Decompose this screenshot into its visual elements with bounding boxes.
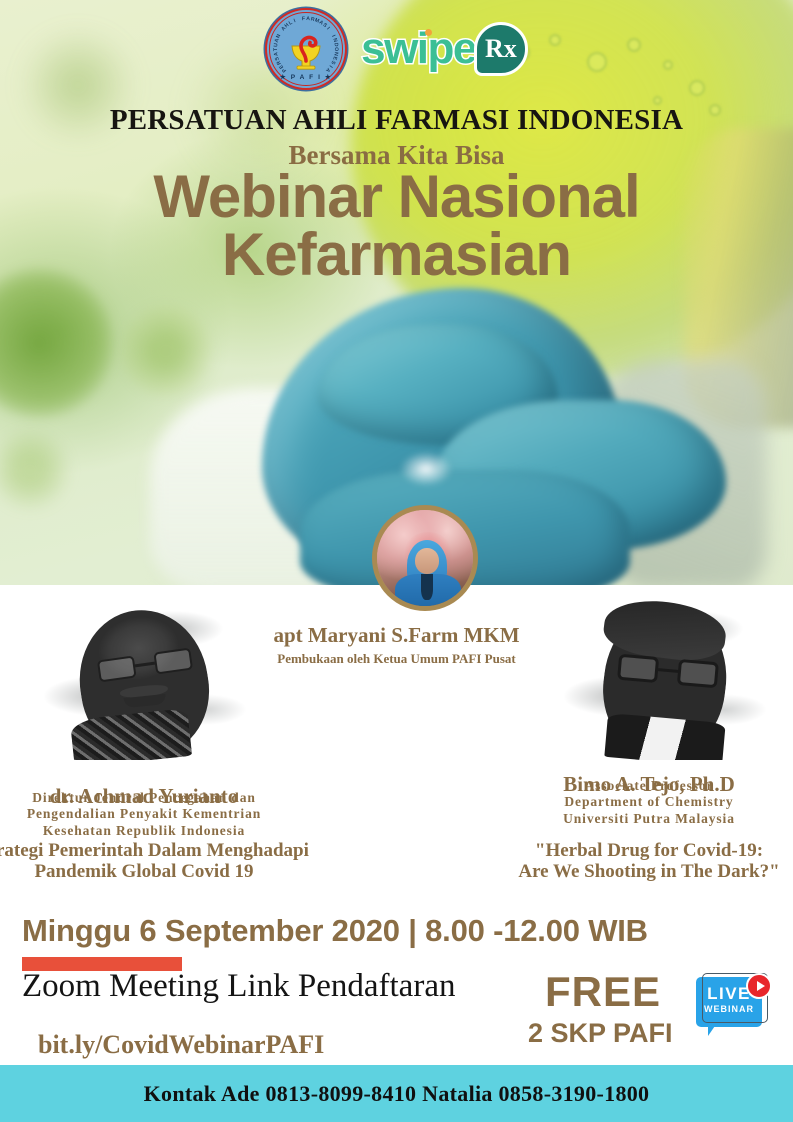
glove-highlight [400, 452, 452, 486]
organization-name: PERSATUAN AHLI FARMASI INDONESIA [0, 104, 793, 137]
price-free: FREE [545, 968, 661, 1016]
left-topic-line-2: Pandemik Global Covid 19 [0, 861, 344, 882]
right-speaker-affiliation: Associate Professor Department of Chemis… [449, 778, 793, 827]
play-icon [746, 973, 772, 999]
right-speaker-photo [556, 592, 772, 760]
right-topic-line-2: Are We Shooting in The Dark?" [449, 861, 793, 882]
left-affiliation-line-2: Pengendalian Penyakit Kementrian [0, 806, 344, 822]
right-affiliation-line-3: Universiti Putra Malaysia [449, 811, 793, 827]
live-webinar-badge: LIVE WEBINAR [694, 973, 772, 1039]
poster-canvas: ★ P A F I ★ PERSATUAN AHLI FARMASI INDON… [0, 0, 793, 1122]
center-speaker-avatar [372, 505, 478, 611]
swipe-wordmark: swipe [361, 27, 476, 71]
footer-contact-text: Kontak Ade 0813-8099-8410 Natalia 0858-3… [144, 1081, 650, 1107]
avatar-face [415, 548, 439, 574]
left-speaker-photo [36, 592, 252, 760]
registration-label: Zoom Meeting Link Pendaftaran [22, 968, 455, 1005]
main-title-line-1: Webinar Nasional [0, 168, 793, 226]
left-affiliation-line-1: Direktur Jendral Pencegahan dan [0, 790, 344, 806]
credits-skp: 2 SKP PAFI [528, 1018, 673, 1049]
right-speaker-topic: "Herbal Drug for Covid-19: Are We Shooti… [449, 840, 793, 883]
right-affiliation-line-1: Associate Professor [449, 778, 793, 794]
left-speaker-affiliation: Direktur Jendral Pencegahan dan Pengenda… [0, 790, 344, 839]
event-date-time: Minggu 6 September 2020 | 8.00 -12.00 WI… [22, 913, 648, 949]
logo-row: ★ P A F I ★ PERSATUAN AHLI FARMASI INDON… [0, 6, 793, 92]
pafi-logo: ★ P A F I ★ PERSATUAN AHLI FARMASI INDON… [265, 8, 347, 90]
left-topic-line-1: Strategi Pemerintah Dalam Menghadapi [0, 840, 344, 861]
right-affiliation-line-2: Department of Chemistry [449, 794, 793, 810]
rx-speech-bubble-icon: Rx [474, 22, 528, 76]
left-speaker-topic: Strategi Pemerintah Dalam Menghadapi Pan… [0, 840, 344, 883]
avatar-collar [421, 574, 433, 600]
swiperx-logo: swipe Rx [361, 22, 528, 76]
live-badge-bubble-tail [708, 1023, 717, 1036]
virus-blob [0, 268, 114, 418]
registration-link[interactable]: bit.ly/CovidWebinarPAFI [38, 1030, 324, 1060]
rx-text: Rx [485, 36, 517, 62]
swipe-wordmark-text: swipe [361, 24, 476, 73]
footer-contact-bar: Kontak Ade 0813-8099-8410 Natalia 0858-3… [0, 1065, 793, 1122]
right-topic-line-1: "Herbal Drug for Covid-19: [449, 840, 793, 861]
left-affiliation-line-3: Kesehatan Republik Indonesia [0, 823, 344, 839]
virus-blob [120, 305, 212, 397]
virus-blob [0, 430, 70, 510]
main-title: Webinar Nasional Kefarmasian [0, 168, 793, 284]
live-badge-webinar-text: WEBINAR [696, 1005, 762, 1014]
pafi-logo-ring-text: PERSATUAN AHLI FARMASI INDONESIA [267, 10, 345, 88]
main-title-line-2: Kefarmasian [0, 226, 793, 284]
